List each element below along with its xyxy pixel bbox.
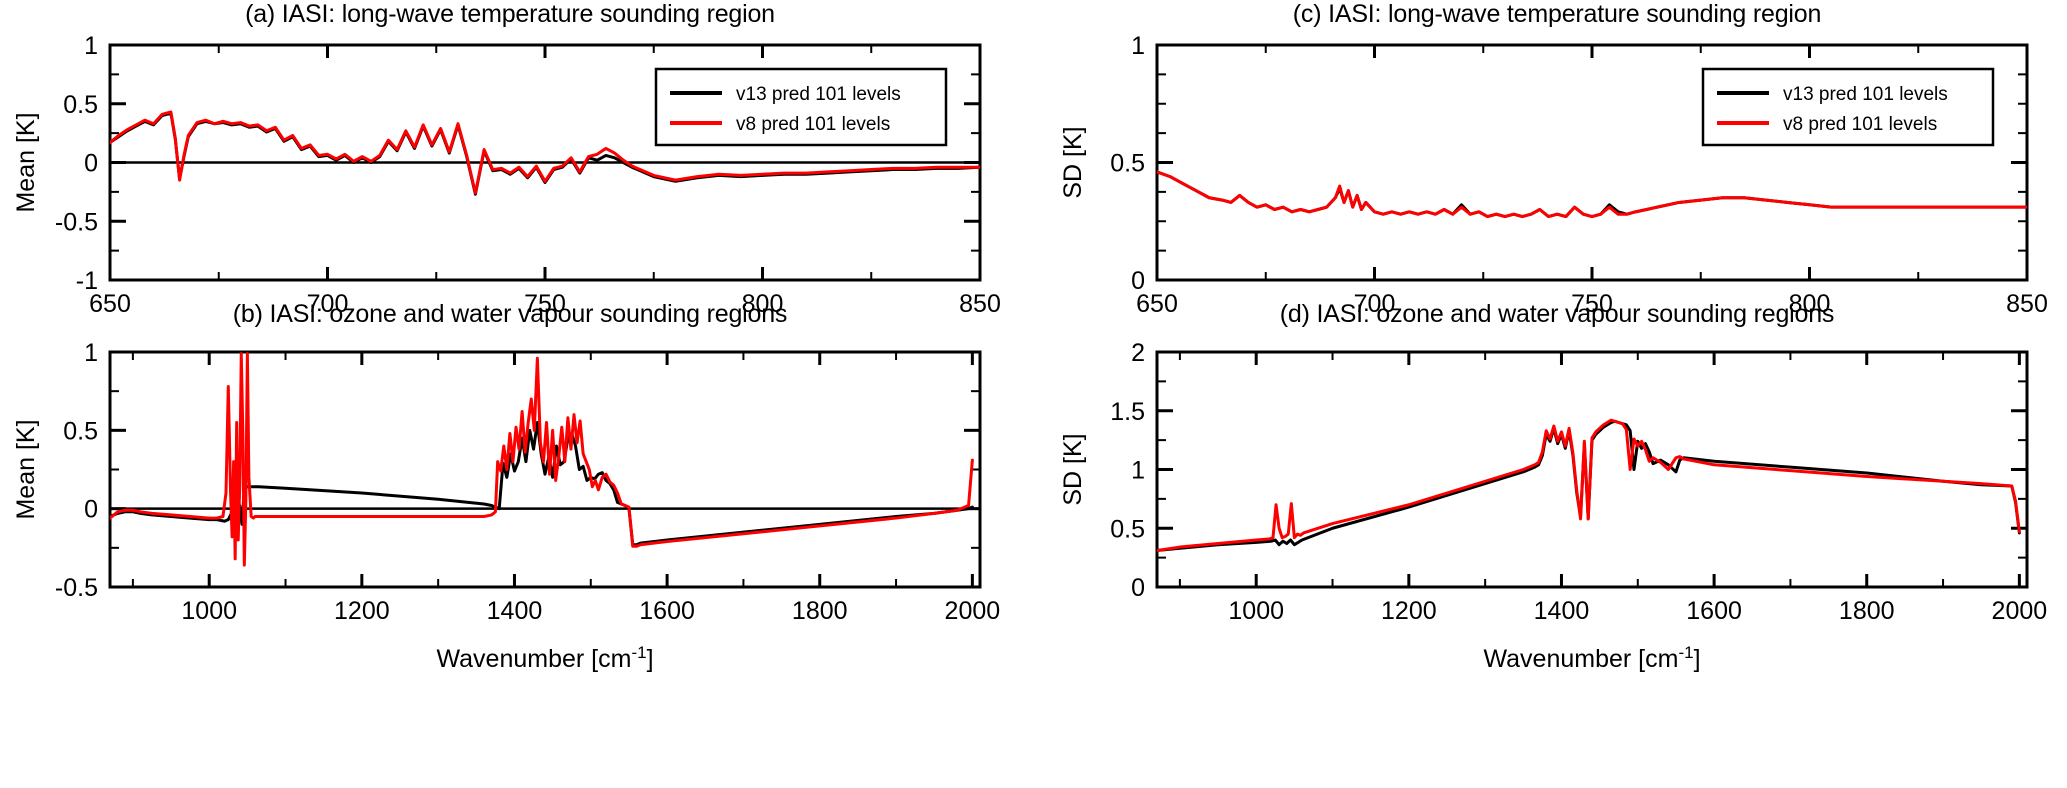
y-tick-label: 0 — [84, 496, 98, 524]
x-tick-label: 2000 — [945, 597, 1001, 625]
legend-label: v13 pred 101 levels — [736, 84, 901, 105]
x-tick-label: 1200 — [1381, 597, 1437, 625]
x-tick-label: 1000 — [1228, 597, 1284, 625]
y-tick-label: 1.5 — [1110, 398, 1145, 426]
x-tick-label: 1400 — [1534, 597, 1590, 625]
y-tick-label: 0.5 — [1110, 150, 1145, 178]
y-tick-label: 2 — [1131, 339, 1145, 367]
series-line — [1157, 172, 2027, 217]
y-axis-title: Mean [K] — [12, 419, 40, 519]
y-axis-title: SD [K] — [1059, 126, 1087, 198]
x-tick-label: 2000 — [1992, 597, 2048, 625]
legend: v13 pred 101 levelsv8 pred 101 levels — [656, 69, 946, 145]
series-line — [1157, 421, 2019, 550]
legend: v13 pred 101 levelsv8 pred 101 levels — [1703, 69, 1993, 145]
y-tick-label: 0 — [1131, 574, 1145, 602]
y-tick-label: 0 — [84, 150, 98, 178]
y-tick-label: 0.5 — [63, 417, 98, 445]
x-tick-label: 1200 — [334, 597, 390, 625]
x-axis-title: Wavenumber [cm-1] — [1483, 643, 1700, 674]
panel-d-title: (d) IASI: ozone and water vapour soundin… — [1047, 300, 2067, 329]
y-tick-label: 0.5 — [1110, 515, 1145, 543]
figure-root: (a) IASI: long-wave temperature sounding… — [0, 0, 2067, 788]
legend-label: v8 pred 101 levels — [1783, 114, 1937, 135]
y-tick-label: 0.5 — [63, 91, 98, 119]
x-axis-title: Wavenumber [cm-1] — [436, 643, 653, 674]
y-tick-label: 1 — [1131, 32, 1145, 60]
y-tick-label: 1 — [84, 339, 98, 367]
y-tick-label: 1 — [84, 32, 98, 60]
x-tick-label: 1000 — [181, 597, 237, 625]
y-tick-label: -0.5 — [55, 574, 98, 602]
y-tick-label: 0 — [1131, 267, 1145, 295]
x-tick-label: 1400 — [487, 597, 543, 625]
y-axis-title: Mean [K] — [12, 112, 40, 212]
legend-label: v13 pred 101 levels — [1783, 84, 1948, 105]
panel-a: (a) IASI: long-wave temperature sounding… — [0, 0, 1020, 310]
panel-b-title: (b) IASI: ozone and water vapour soundin… — [0, 300, 1020, 329]
panel-a-plot: 650700750800850-1-0.500.51Mean [K]v13 pr… — [0, 0, 1020, 310]
x-tick-label: 1600 — [1686, 597, 1742, 625]
x-tick-label: 1800 — [1839, 597, 1895, 625]
y-axis-title: SD [K] — [1059, 433, 1087, 505]
legend-label: v8 pred 101 levels — [736, 114, 890, 135]
panel-b: (b) IASI: ozone and water vapour soundin… — [0, 300, 1020, 788]
panel-d: (d) IASI: ozone and water vapour soundin… — [1047, 300, 2067, 788]
panel-c-title: (c) IASI: long-wave temperature sounding… — [1047, 0, 2067, 29]
x-tick-label: 1800 — [792, 597, 848, 625]
y-tick-label: -0.5 — [55, 208, 98, 236]
panel-a-title: (a) IASI: long-wave temperature sounding… — [0, 0, 1020, 29]
panel-c-plot: 65070075080085000.51SD [K]v13 pred 101 l… — [1047, 0, 2067, 310]
x-tick-label: 1600 — [639, 597, 695, 625]
panel-c: (c) IASI: long-wave temperature sounding… — [1047, 0, 2067, 310]
series-line — [1157, 420, 2019, 550]
y-tick-label: 1 — [1131, 457, 1145, 485]
panel-b-plot: 100012001400160018002000-0.500.51Mean [K… — [0, 300, 1020, 788]
y-tick-label: -1 — [76, 267, 98, 295]
panel-d-plot: 10001200140016001800200000.511.52SD [K]W… — [1047, 300, 2067, 788]
